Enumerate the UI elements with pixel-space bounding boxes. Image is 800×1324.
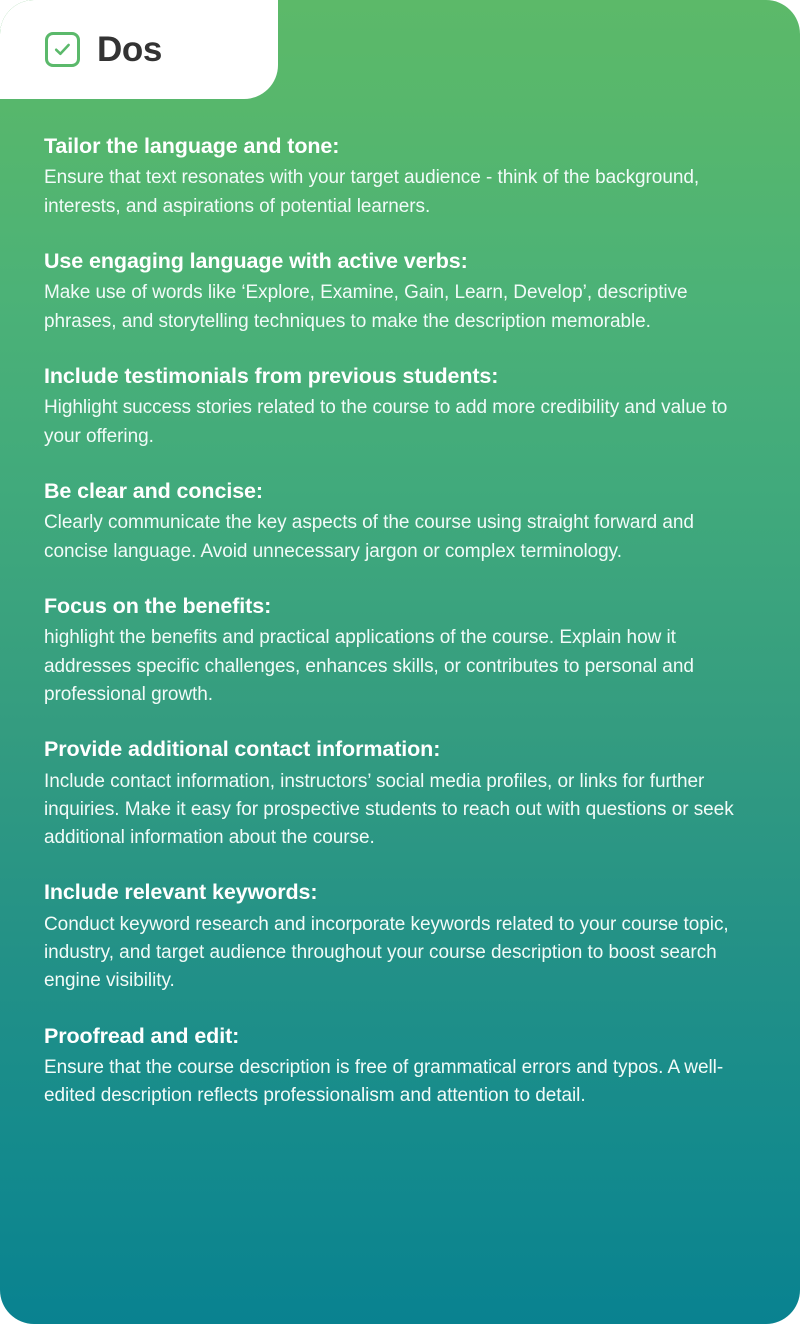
dos-card: Dos Tailor the language and tone: Ensure… <box>0 0 800 1324</box>
section-heading: Provide additional contact information: <box>44 735 756 763</box>
dos-list: Tailor the language and tone: Ensure tha… <box>44 132 756 1111</box>
checkbox-checked-icon <box>45 32 80 67</box>
section-heading: Be clear and concise: <box>44 477 756 505</box>
section-body: Ensure that the course description is fr… <box>44 1054 756 1111</box>
section-body: Highlight success stories related to the… <box>44 394 756 451</box>
section-body: Clearly communicate the key aspects of t… <box>44 509 756 566</box>
section-heading: Tailor the language and tone: <box>44 132 756 160</box>
list-item: Include relevant keywords: Conduct keywo… <box>44 878 756 995</box>
list-item: Provide additional contact information: … <box>44 735 756 852</box>
section-body: highlight the benefits and practical app… <box>44 624 756 709</box>
section-heading: Use engaging language with active verbs: <box>44 247 756 275</box>
list-item: Use engaging language with active verbs:… <box>44 247 756 336</box>
page-title: Dos <box>97 32 162 67</box>
list-item: Be clear and concise: Clearly communicat… <box>44 477 756 566</box>
list-item: Tailor the language and tone: Ensure tha… <box>44 132 756 221</box>
card-header-tab: Dos <box>0 0 278 99</box>
section-body: Ensure that text resonates with your tar… <box>44 164 756 221</box>
section-body: Include contact information, instructors… <box>44 768 756 853</box>
section-heading: Include relevant keywords: <box>44 878 756 906</box>
list-item: Proofread and edit: Ensure that the cour… <box>44 1022 756 1111</box>
section-heading: Include testimonials from previous stude… <box>44 362 756 390</box>
section-heading: Proofread and edit: <box>44 1022 756 1050</box>
list-item: Focus on the benefits: highlight the ben… <box>44 592 756 709</box>
section-heading: Focus on the benefits: <box>44 592 756 620</box>
section-body: Make use of words like ‘Explore, Examine… <box>44 279 756 336</box>
list-item: Include testimonials from previous stude… <box>44 362 756 451</box>
section-body: Conduct keyword research and incorporate… <box>44 911 756 996</box>
